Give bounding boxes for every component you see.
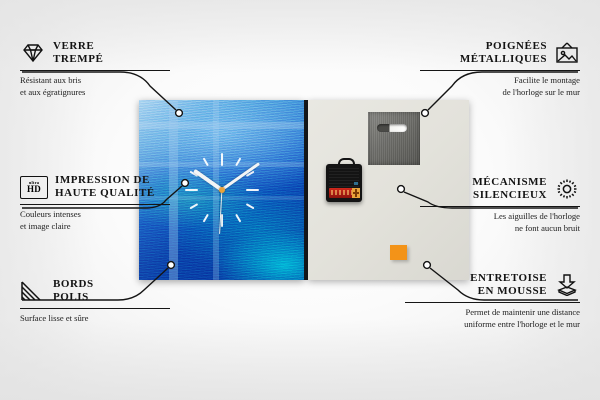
foam-spacer [390,245,407,260]
callout-description: Couleurs intenses et image claire [20,209,170,232]
callout-description: Permet de maintenir une distance uniform… [405,307,580,330]
callout-title: ENTRETOISE EN MOUSSE [470,272,547,299]
callout-verre-trempe: VERRE TREMPÉ Résistant aux bris et aux é… [20,40,170,98]
callout-description: Les aiguilles de l'horloge ne font aucun… [420,211,580,234]
callout-description: Surface lisse et sûre [20,313,170,325]
callout-entretoise-en-mousse: ENTRETOISE EN MOUSSE Permet de maintenir… [405,272,580,330]
keyhole-slot [377,124,407,132]
callout-title: POIGNÉES MÉTALLIQUES [460,40,547,67]
down-arrow-pad-icon [554,274,580,296]
callout-divider [405,302,580,303]
ultra-hd-icon: ultra HD [20,176,48,199]
diamond-icon [20,42,46,64]
callout-impression-haute-qualite: ultra HD IMPRESSION DE HAUTE QUALITÉ Cou… [20,174,170,232]
callout-poignees-metalliques: POIGNÉES MÉTALLIQUES Facilite le montage… [420,40,580,98]
callout-divider [20,204,170,205]
callout-divider [20,70,170,71]
callout-description: Facilite le montage de l'horloge sur le … [420,75,580,98]
callout-title: IMPRESSION DE HAUTE QUALITÉ [55,174,155,201]
callout-header: POIGNÉES MÉTALLIQUES [420,40,580,67]
callout-header: ultra HD IMPRESSION DE HAUTE QUALITÉ [20,174,170,201]
callout-header: VERRE TREMPÉ [20,40,170,67]
callout-title: BORDS POLIS [53,278,94,305]
battery-positive-terminal [352,188,360,198]
mechanism-label-dot [354,182,358,185]
callout-header: MÉCANISME SILENCIEUX [420,176,580,203]
callout-divider [20,308,170,309]
gear-icon [554,178,580,200]
metal-grain-texture [368,112,420,165]
callout-header: ENTRETOISE EN MOUSSE [405,272,580,299]
hanging-frame-icon [554,42,580,64]
callout-title: VERRE TREMPÉ [53,40,103,67]
callout-divider [420,206,580,207]
battery-label [331,190,353,195]
clock-mechanism [326,164,362,202]
callout-header: BORDS POLIS [20,278,170,305]
clock-center-cap [219,187,225,193]
diagonal-lines-icon [20,280,46,302]
callout-bords-polis: BORDS POLIS Surface lisse et sûre [20,278,170,325]
battery [329,188,359,198]
callout-description: Résistant aux bris et aux égratignures [20,75,170,98]
callout-mecanisme-silencieux: MÉCANISME SILENCIEUX Les aiguilles de l'… [420,176,580,234]
callout-divider [420,70,580,71]
infographic-canvas: VERRE TREMPÉ Résistant aux bris et aux é… [0,0,600,400]
callout-title: MÉCANISME SILENCIEUX [472,176,547,203]
metal-hanger-plate [368,112,420,165]
